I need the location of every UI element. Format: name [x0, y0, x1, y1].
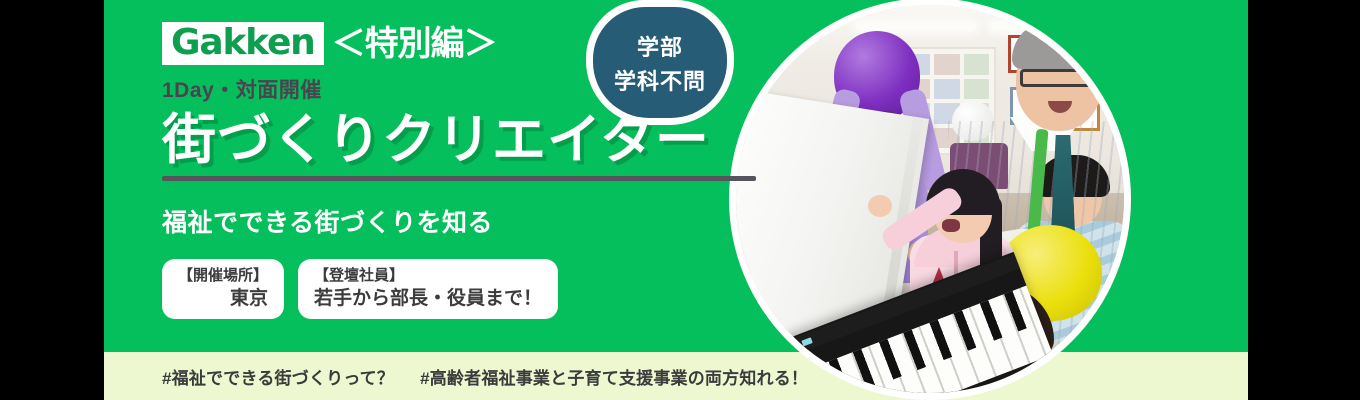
badge-line-2: 学科不問 [614, 64, 706, 96]
hashtag-list: #福祉でできる街づくりって？ #高齢者福祉事業と子育て支援事業の両方知れる！ [162, 352, 808, 400]
info-pill-group: 【開催場所】 東京 【登壇社員】 若手から部長・役員まで！ [162, 259, 762, 319]
info-pill-location: 【開催場所】 東京 [162, 259, 284, 319]
event-banner: 学部 学科不問 Gakken ＜特別編＞ 1Day・対面開催 街づくりクリエイタ… [104, 0, 1248, 400]
badge-line-1: 学部 [637, 30, 683, 62]
eligibility-badge: 学部 学科不問 [586, 0, 734, 125]
event-photo [736, 5, 1124, 393]
info-pill-speakers: 【登壇社員】 若手から部長・役員まで！ [298, 259, 558, 319]
gakken-logo: Gakken [162, 22, 324, 65]
pill-value: 東京 [178, 286, 268, 311]
subtitle: 福祉でできる街づくりを知る [162, 203, 762, 239]
hashtag-item: #福祉でできる街づくりって？ [162, 364, 394, 389]
title-divider [162, 176, 756, 181]
photo-circle-frame [729, 0, 1131, 400]
pill-key: 【開催場所】 [178, 266, 268, 286]
letterbox-bar-right [1248, 0, 1360, 400]
badge-fill: 学部 学科不問 [593, 7, 727, 118]
letterbox-bar-left [0, 0, 104, 400]
pill-value: 若手から部長・役員まで！ [314, 286, 542, 311]
pill-key: 【登壇社員】 [314, 266, 542, 286]
edition-label: ＜特別編＞ [332, 27, 497, 61]
screenshot-root: 学部 学科不問 Gakken ＜特別編＞ 1Day・対面開催 街づくりクリエイタ… [0, 0, 1360, 400]
